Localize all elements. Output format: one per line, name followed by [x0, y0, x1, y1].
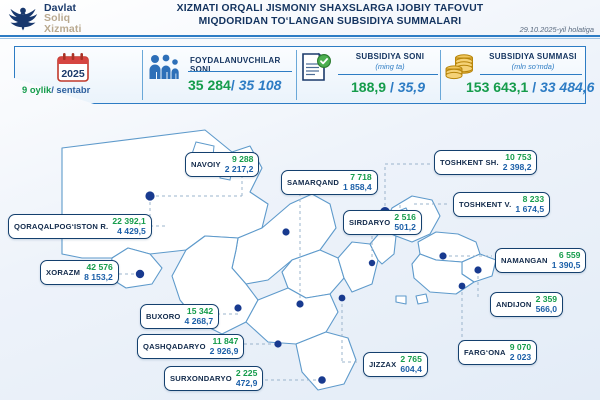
region-values: 22 392,14 429,5	[112, 217, 145, 236]
brand-line-3: Xizmati	[44, 24, 81, 35]
region-name: SURXONDARYO	[170, 374, 232, 383]
region-values: 2 765604,4	[400, 355, 422, 374]
region-subsidy-sum: 2 926,9	[210, 347, 239, 357]
region-subsidy-sum: 1 390,5	[552, 261, 581, 271]
region-name: ANDIJON	[496, 300, 532, 309]
region-detail-2	[396, 296, 406, 304]
subsidy-count-previous: 35,9	[398, 79, 425, 95]
region-values: 2 516501,2	[394, 213, 416, 232]
region-label-toshkent-sh[interactable]: TOSHKENT SH.10 7532 398,2	[434, 150, 537, 175]
region-name: SIRDARYO	[349, 218, 390, 227]
region-subsidy-sum: 2 023	[510, 353, 532, 363]
region-values: 9 0702 023	[510, 343, 532, 362]
region-label-navoiy[interactable]: NAVOIY9 2882 217,2	[185, 152, 259, 177]
humo-bird-icon	[6, 4, 40, 32]
region-name: TOSHKENT SH.	[440, 158, 499, 167]
region-name: XORAZM	[46, 268, 80, 277]
region-subsidy-sum: 2 217,2	[225, 165, 254, 175]
region-label-jizzax[interactable]: JIZZAX2 765604,4	[363, 352, 428, 377]
region-values: 2 359566,0	[536, 295, 558, 314]
region-name: FARG‘ONA	[464, 348, 506, 357]
document-check-icon	[300, 52, 332, 82]
region-surxondaryo	[296, 332, 356, 390]
svg-text:2025: 2025	[61, 68, 85, 80]
dot-fargona	[459, 283, 466, 290]
brand-logo-text: Davlat Soliq Xizmati	[44, 2, 81, 35]
region-subsidy-sum: 2 398,2	[503, 163, 532, 173]
stat-sublabel-subsidy-sum: (mln so‘mda)	[482, 62, 584, 71]
region-subsidy-sum: 1 858,4	[343, 183, 372, 193]
calendar-icon: 2025	[56, 53, 90, 83]
region-subsidy-sum: 566,0	[536, 305, 558, 315]
stat-cell-subsidy-count: SUBSIDIYA SONI (ming ta) 188,9 / 35,9	[298, 46, 440, 104]
stat-underline-users	[188, 71, 292, 72]
subsidy-sum-previous: 33 484,6	[540, 79, 595, 95]
header-divider-thin	[0, 38, 600, 39]
coins-icon	[444, 52, 476, 82]
region-values: 2 225472,9	[236, 369, 258, 388]
stat-value-subsidy-sum: 153 643,1 / 33 484,6	[466, 79, 586, 95]
stat-underline-subsidy-sum	[480, 74, 582, 75]
region-name: BUXORO	[146, 312, 181, 321]
period-blue: sentabr	[54, 84, 90, 95]
header-divider	[0, 35, 600, 37]
brand-logo: Davlat Soliq Xizmati	[6, 2, 124, 34]
region-subsidy-sum: 8 153,2	[84, 273, 113, 283]
subsidy-count-current: 188,9	[351, 79, 386, 95]
region-label-samarqand[interactable]: SAMARQAND7 7181 858,4	[281, 170, 378, 195]
region-values: 6 5591 390,5	[552, 251, 581, 270]
region-subsidy-sum: 4 268,7	[185, 317, 214, 327]
region-name: TOSHKENT V.	[459, 200, 511, 209]
region-label-toshkent-v[interactable]: TOSHKENT V.8 2331 674,5	[453, 192, 550, 217]
page-title-line-2: MIQDORIDAN TO‘LANGAN SUBSIDIYA SUMMALARI	[130, 16, 530, 29]
region-subsidy-sum: 4 429,5	[117, 227, 146, 237]
stat-cell-period: 2025 9 oylik/ sentabr	[14, 46, 142, 104]
uzbekistan-map: NAVOIY9 2882 217,2SAMARQAND7 7181 858,4T…	[0, 108, 600, 400]
region-subsidy-sum: 501,2	[394, 223, 416, 233]
region-values: 8 2331 674,5	[515, 195, 544, 214]
period-label: 9 oylik/ sentabr	[22, 84, 90, 95]
region-detail-1	[416, 294, 428, 304]
region-label-xorazm[interactable]: XORAZM42 5768 153,2	[40, 260, 119, 285]
period-green: 9 oylik	[22, 84, 51, 95]
region-label-qashqadaryo[interactable]: QASHQADARYO11 8472 926,9	[137, 334, 244, 359]
region-subsidy-sum: 604,4	[400, 365, 422, 375]
region-label-qoraqalpog-iston-r[interactable]: QORAQALPOG‘ISTON R.22 392,14 429,5	[8, 214, 152, 239]
dot-xorazm	[136, 270, 144, 278]
stat-label-subsidy-sum: SUBSIDIYA SUMMASI	[482, 52, 584, 61]
stat-sublabel-subsidy-count: (ming ta)	[340, 62, 440, 71]
stat-label-subsidy-count: SUBSIDIYA SONI	[340, 52, 440, 61]
users-sep: /	[231, 77, 235, 93]
summary-stats-bar: 2025 9 oylik/ sentabr FOYDALANUVCHILAR S…	[14, 46, 586, 104]
stat-value-users: 35 284/ 35 108	[188, 77, 281, 93]
page-title: XIZMATI ORQALI JISMONIY SHAXSLARGA IJOBI…	[130, 3, 530, 28]
region-name: QORAQALPOG‘ISTON R.	[14, 222, 108, 231]
stat-cell-users: FOYDALANUVCHILAR SONI 35 284/ 35 108	[144, 46, 296, 104]
stat-cell-subsidy-sum: SUBSIDIYA SUMMASI (mln so‘mda) 153 643,1…	[442, 46, 586, 104]
region-values: 15 3424 268,7	[185, 307, 214, 326]
dot-samarqand	[296, 300, 303, 307]
region-name: NAVOIY	[191, 160, 221, 169]
region-name: JIZZAX	[369, 360, 396, 369]
region-label-sirdaryo[interactable]: SIRDARYO2 516501,2	[343, 210, 422, 235]
dot-buxoro	[234, 304, 241, 311]
subsidy-count-sep: /	[390, 79, 394, 95]
region-values: 10 7532 398,2	[503, 153, 532, 172]
page-title-line-1: XIZMATI ORQALI JISMONIY SHAXSLARGA IJOBI…	[130, 3, 530, 16]
as-of-date: 29.10.2025-yil holatiga	[520, 25, 594, 34]
region-values: 7 7181 858,4	[343, 173, 372, 192]
subsidy-sum-current: 153 643,1	[466, 79, 528, 95]
region-subsidy-sum: 472,9	[236, 379, 258, 389]
dot-namangan	[439, 252, 446, 259]
region-label-andijon[interactable]: ANDIJON2 359566,0	[490, 292, 563, 317]
family-icon	[148, 54, 180, 80]
region-label-namangan[interactable]: NAMANGAN6 5591 390,5	[495, 248, 586, 273]
dot-qashqadaryo	[274, 340, 281, 347]
region-values: 11 8472 926,9	[210, 337, 239, 356]
stat-underline-subsidy-count	[338, 74, 438, 75]
region-name: NAMANGAN	[501, 256, 548, 265]
region-name: SAMARQAND	[287, 178, 339, 187]
dot-andijon	[474, 266, 481, 273]
page-header: Davlat Soliq Xizmati XIZMATI ORQALI JISM…	[0, 0, 600, 34]
region-name: QASHQADARYO	[143, 342, 206, 351]
dot-surxondaryo	[318, 376, 326, 384]
users-current: 35 284	[188, 77, 231, 93]
dot-sirdaryo	[369, 260, 375, 266]
stat-value-subsidy-count: 188,9 / 35,9	[338, 79, 438, 95]
users-previous: 35 108	[239, 77, 282, 93]
region-values: 9 2882 217,2	[225, 155, 254, 174]
dot-qoraqalpogiston	[145, 191, 154, 200]
region-subsidy-sum: 1 674,5	[515, 205, 544, 215]
dot-navoiy	[282, 228, 289, 235]
region-label-farg-ona[interactable]: FARG‘ONA9 0702 023	[458, 340, 537, 365]
region-values: 42 5768 153,2	[84, 263, 113, 282]
region-label-buxoro[interactable]: BUXORO15 3424 268,7	[140, 304, 219, 329]
region-label-surxondaryo[interactable]: SURXONDARYO2 225472,9	[164, 366, 263, 391]
dot-jizzax	[339, 295, 346, 302]
subsidy-sum-sep: /	[532, 79, 536, 95]
